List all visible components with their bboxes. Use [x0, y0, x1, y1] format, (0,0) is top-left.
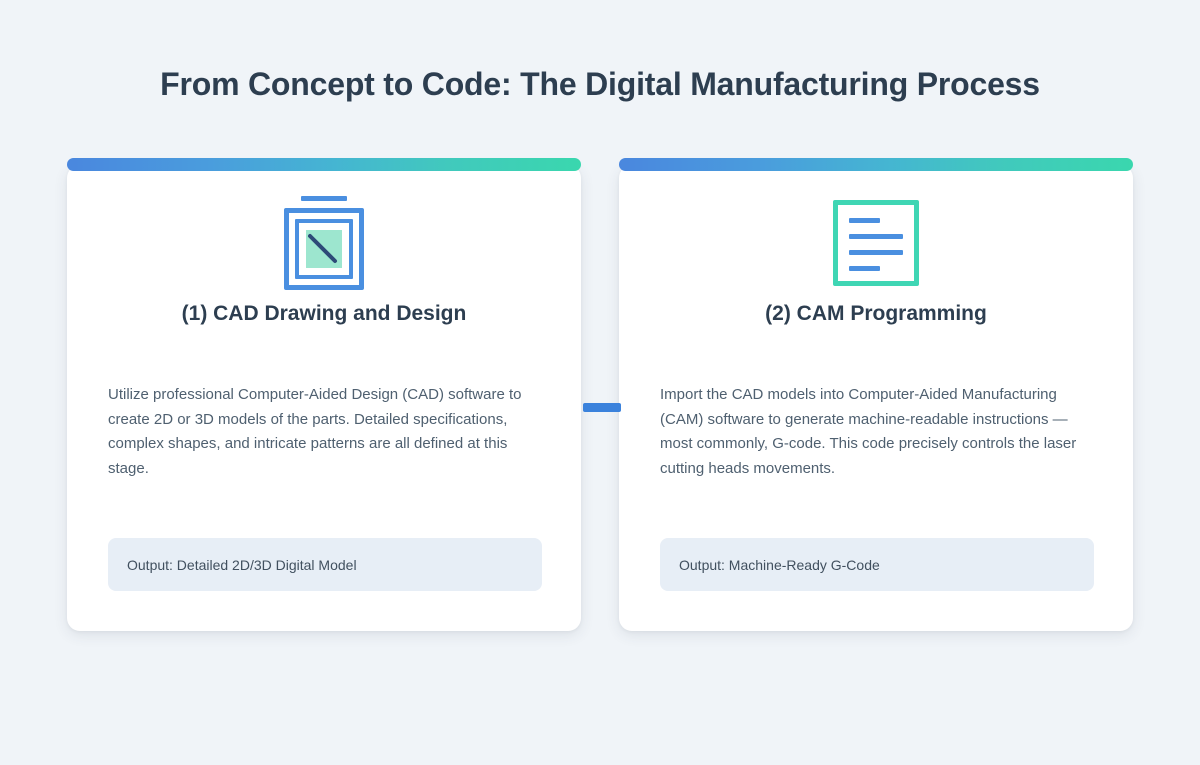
- card-output-label: Output: Detailed 2D/3D Digital Model: [127, 557, 357, 573]
- step-card-cad[interactable]: (1) CAD Drawing and Design Utilize profe…: [67, 165, 581, 631]
- cam-document-icon: [833, 200, 919, 286]
- card-heading: (1) CAD Drawing and Design: [67, 299, 581, 329]
- cad-diagonal-line-icon: [308, 234, 338, 264]
- cam-lines-group-icon: [849, 218, 903, 271]
- card-heading: (2) CAM Programming: [619, 299, 1133, 329]
- card-description: Utilize professional Computer-Aided Desi…: [108, 383, 528, 481]
- cam-line-icon: [849, 218, 880, 223]
- cam-line-icon: [849, 266, 880, 271]
- card-icon-area: [619, 193, 1133, 293]
- page-title: From Concept to Code: The Digital Manufa…: [0, 62, 1200, 106]
- cad-drawing-icon: [278, 196, 370, 290]
- cam-line-icon: [849, 234, 903, 239]
- cad-top-bar-icon: [301, 196, 347, 201]
- card-output-label: Output: Machine-Ready G-Code: [679, 557, 880, 573]
- card-icon-area: [67, 193, 581, 293]
- cam-line-icon: [849, 250, 903, 255]
- process-steps-container: (1) CAD Drawing and Design Utilize profe…: [67, 165, 1133, 631]
- step-card-cam[interactable]: (2) CAM Programming Import the CAD model…: [619, 165, 1133, 631]
- infographic-page: From Concept to Code: The Digital Manufa…: [0, 0, 1200, 765]
- step-connector: [583, 403, 621, 412]
- card-output-badge: Output: Detailed 2D/3D Digital Model: [108, 538, 542, 591]
- card-description: Import the CAD models into Computer-Aide…: [660, 383, 1080, 481]
- card-output-badge: Output: Machine-Ready G-Code: [660, 538, 1094, 591]
